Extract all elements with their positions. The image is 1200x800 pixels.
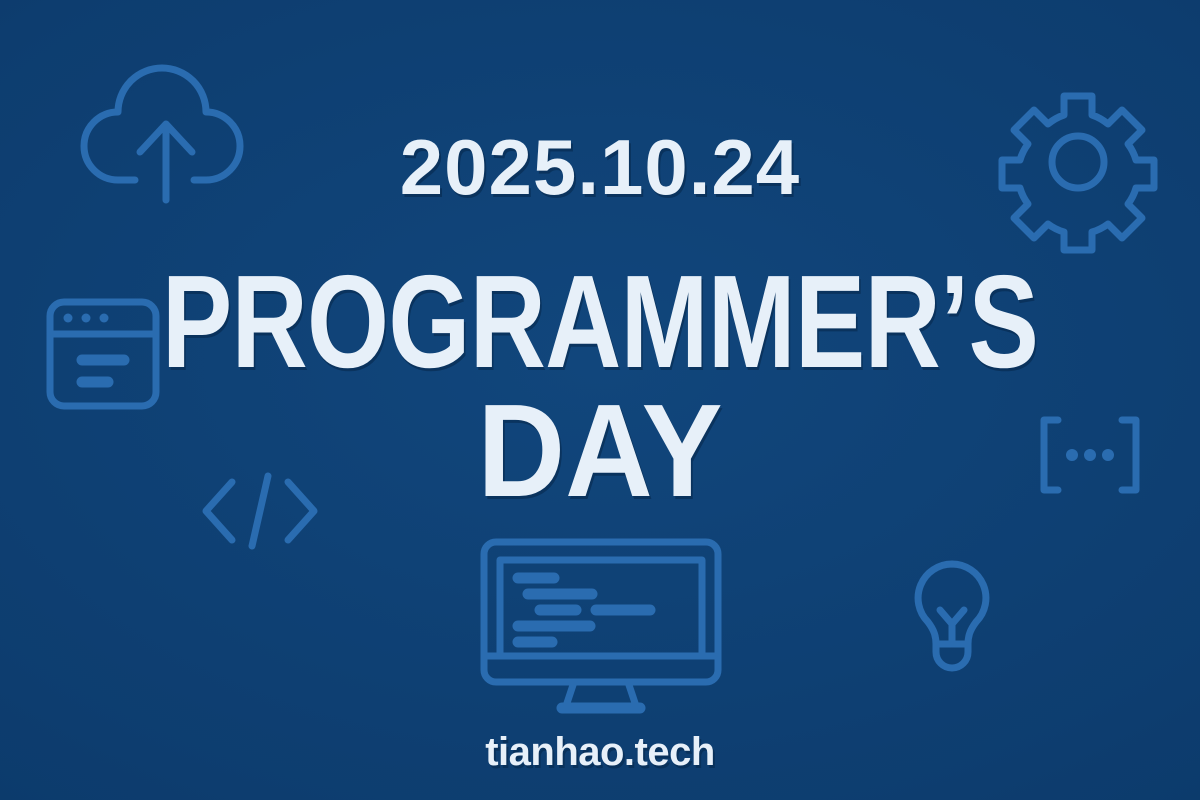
poster-text-layer: 2025.10.24 PROGRAMMER’S DAY tianhao.tech [0, 0, 1200, 800]
site-url: tianhao.tech [0, 732, 1200, 772]
page-title-line-2: DAY [48, 385, 1152, 517]
page-title-line-1: PROGRAMMER’S [120, 256, 1080, 388]
programmers-day-poster: 2025.10.24 PROGRAMMER’S DAY tianhao.tech [0, 0, 1200, 800]
event-date: 2025.10.24 [0, 128, 1200, 206]
